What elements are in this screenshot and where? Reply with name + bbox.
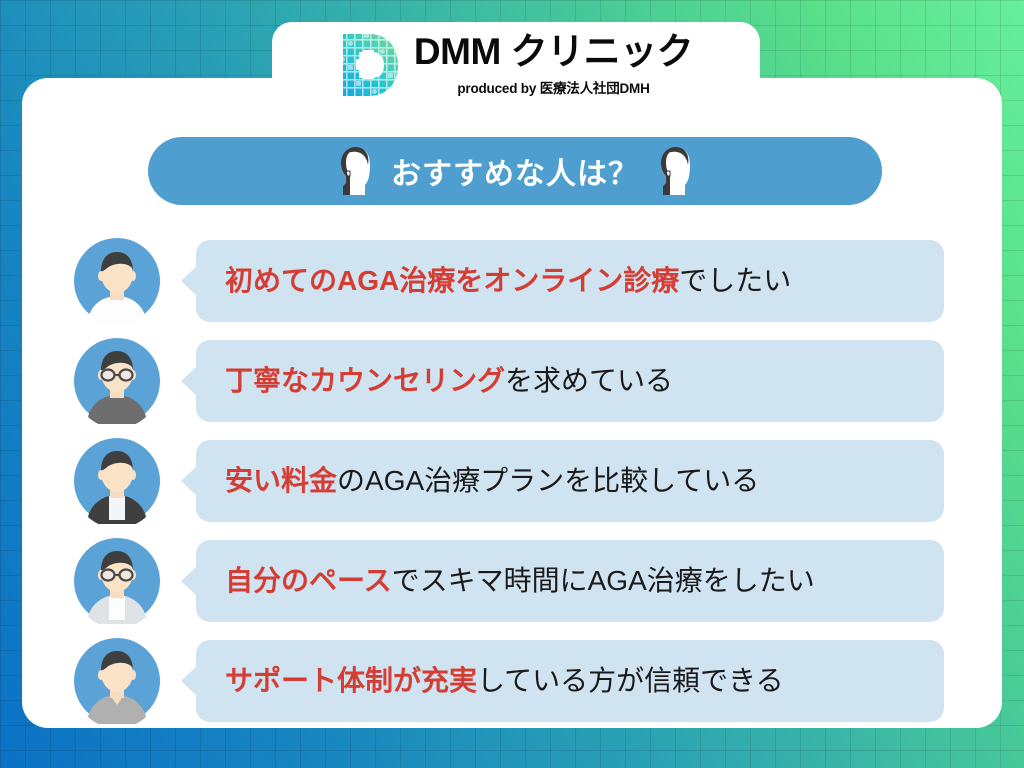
avatar	[74, 638, 160, 724]
speech-bubble: 安い料金のAGA治療プランを比較している	[196, 440, 944, 522]
list-item: 丁寧なカウンセリングを求めている	[0, 331, 1024, 431]
brand-name: DMM クリニック	[414, 33, 693, 72]
list-item-text: 自分のペースでスキマ時間にAGA治療をしたい	[196, 566, 815, 597]
highlight-text: サポート体制が充実	[225, 665, 477, 696]
avatar	[74, 538, 160, 624]
head-silhouette-right-icon	[657, 145, 693, 197]
list-item: 初めてのAGA治療をオンライン診療でしたい	[0, 231, 1024, 331]
highlight-text: 初めてのAGA治療をオンライン診療	[225, 265, 679, 296]
list-item-text: 初めてのAGA治療をオンライン診療でしたい	[196, 266, 791, 297]
avatar	[74, 438, 160, 524]
list-item-text: サポート体制が充実している方が信頼できる	[196, 666, 784, 697]
rest-text: のAGA治療プランを比較している	[337, 465, 759, 496]
head-silhouette-left-icon	[337, 145, 373, 197]
rest-text: でスキマ時間にAGA治療をしたい	[392, 565, 815, 596]
speech-bubble: 丁寧なカウンセリングを求めている	[196, 340, 944, 422]
dmm-mosaic-d-logo-icon	[339, 32, 401, 98]
highlight-text: 丁寧なカウンセリング	[225, 365, 505, 396]
rest-text: を求めている	[505, 365, 673, 396]
speech-bubble: 初めてのAGA治療をオンライン診療でしたい	[196, 240, 944, 322]
avatar	[74, 238, 160, 324]
avatar	[74, 338, 160, 424]
list-item: 安い料金のAGA治療プランを比較している	[0, 431, 1024, 531]
list-item-text: 安い料金のAGA治療プランを比較している	[196, 466, 759, 497]
section-title-banner: おすすめな人は？	[148, 137, 882, 205]
brand-subtitle: produced by 医療法人社団DMH	[457, 77, 649, 97]
list-item-text: 丁寧なカウンセリングを求めている	[196, 366, 673, 397]
brand-logo-row: DMM クリニック produced by 医療法人社団DMH	[339, 32, 693, 98]
highlight-text: 安い料金	[225, 465, 337, 496]
highlight-text: 自分のペース	[225, 565, 392, 596]
speech-bubble: サポート体制が充実している方が信頼できる	[196, 640, 944, 722]
speech-bubble: 自分のペースでスキマ時間にAGA治療をしたい	[196, 540, 944, 622]
recommendation-list: 初めてのAGA治療をオンライン診療でしたい 丁寧なカウンセリングを求めている	[0, 231, 1024, 731]
list-item: 自分のペースでスキマ時間にAGA治療をしたい	[0, 531, 1024, 631]
list-item: サポート体制が充実している方が信頼できる	[0, 631, 1024, 731]
header-logo-tab: DMM クリニック produced by 医療法人社団DMH	[272, 22, 760, 114]
page-title: おすすめな人は？	[391, 149, 639, 193]
rest-text: でしたい	[679, 265, 791, 296]
rest-text: している方が信頼できる	[477, 665, 784, 696]
